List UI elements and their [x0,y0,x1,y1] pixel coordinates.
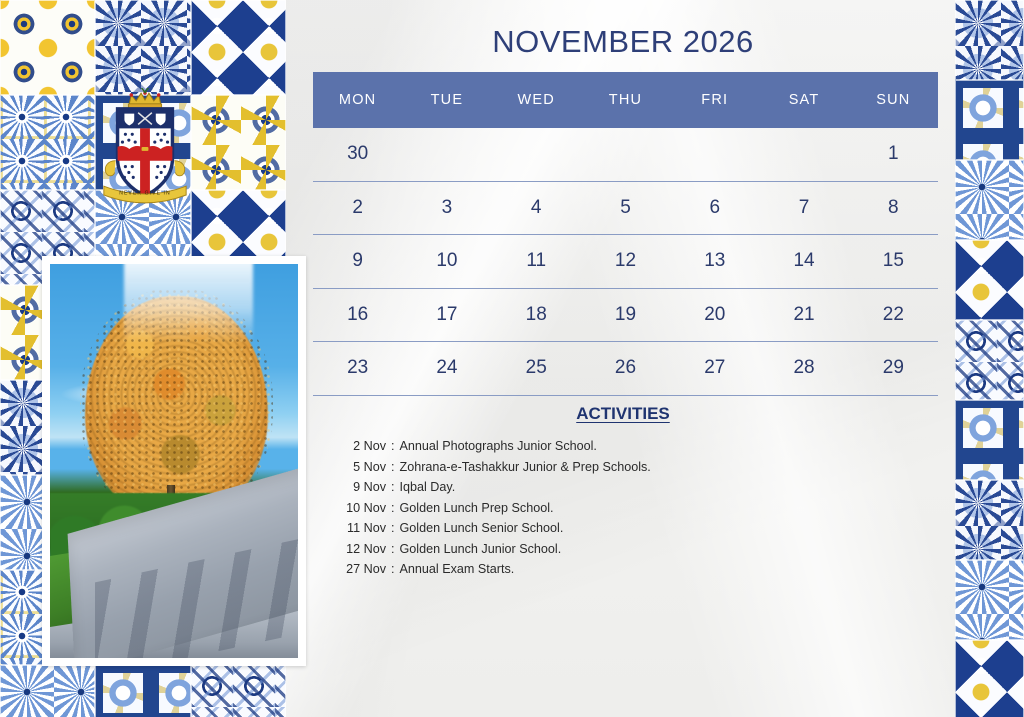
tile [955,0,1024,80]
weekday-sun: SUN [849,92,938,108]
day-cell[interactable]: 13 [670,250,759,272]
activity-text: Golden Lunch Junior School. [400,539,562,560]
crown-icon [128,91,161,108]
activity-separator: : [386,539,400,560]
activity-item: 9 Nov : Iqbal Day. [310,477,936,498]
weekday-thu: THU [581,92,670,108]
day-cell[interactable]: 21 [759,304,848,326]
day-cell[interactable]: 30 [313,143,402,165]
tile [191,0,286,95]
day-cell[interactable]: 22 [849,304,938,326]
day-cell[interactable]: 10 [402,250,491,272]
day-cell[interactable]: 5 [581,197,670,219]
calendar-week-row: 16 17 18 19 20 21 22 [313,289,938,343]
activities-list: 2 Nov : Annual Photographs Junior School… [310,436,936,580]
school-crest: NEVER GIVE IN [96,88,194,206]
weekday-wed: WED [492,92,581,108]
activity-item: 2 Nov : Annual Photographs Junior School… [310,436,936,457]
activity-date: 12 Nov [328,539,386,560]
tile [955,640,1024,717]
activity-date: 5 Nov [328,457,386,478]
day-cell[interactable]: 11 [492,250,581,272]
weekday-sat: SAT [759,92,848,108]
foliage-icon [135,88,155,93]
tile [0,665,95,717]
day-cell[interactable]: 12 [581,250,670,272]
tile [955,320,1024,400]
photo-highlight-overlay [124,264,253,343]
weekday-header-row: MON TUE WED THU FRI SAT SUN [313,72,938,128]
day-cell[interactable]: 7 [759,197,848,219]
activity-text: Zohrana-e-Tashakkur Junior & Prep School… [400,457,651,478]
tile [0,0,95,95]
day-cell[interactable]: 19 [581,304,670,326]
weekday-tue: TUE [402,92,491,108]
tile [955,160,1024,240]
day-cell[interactable]: 24 [402,357,491,379]
calendar-week-row: 2 3 4 5 6 7 8 [313,182,938,236]
calendar-weeks: 30 1 2 3 4 5 6 7 8 9 10 11 12 [313,128,938,396]
tile [0,95,95,190]
activity-date: 9 Nov [328,477,386,498]
day-cell[interactable]: 29 [849,357,938,379]
day-cell[interactable]: 2 [313,197,402,219]
activity-text: Iqbal Day. [400,477,456,498]
activity-separator: : [386,559,400,580]
activity-item: 12 Nov : Golden Lunch Junior School. [310,539,936,560]
day-cell[interactable]: 27 [670,357,759,379]
activity-item: 27 Nov : Annual Exam Starts. [310,559,936,580]
activity-separator: : [386,436,400,457]
day-cell[interactable]: 6 [670,197,759,219]
activity-separator: : [386,518,400,539]
activity-date: 27 Nov [328,559,386,580]
tile [95,0,190,95]
tile [955,560,1024,640]
weekday-mon: MON [313,92,402,108]
day-cell[interactable]: 26 [581,357,670,379]
day-cell[interactable]: 18 [492,304,581,326]
calendar-page: NEVER GIVE IN NOVEMBER 2026 MON TUE WED … [0,0,1024,717]
photo-card [42,256,306,666]
tile [955,480,1024,560]
tile [95,665,190,717]
calendar-panel: NOVEMBER 2026 MON TUE WED THU FRI SAT SU… [310,0,960,717]
tile [191,665,286,717]
activity-separator: : [386,457,400,478]
tile [955,80,1024,160]
activity-date: 11 Nov [328,518,386,539]
activity-text: Golden Lunch Prep School. [400,498,554,519]
day-cell[interactable]: 16 [313,304,402,326]
day-cell[interactable]: 17 [402,304,491,326]
activity-date: 2 Nov [328,436,386,457]
day-cell[interactable]: 14 [759,250,848,272]
weekday-fri: FRI [670,92,759,108]
tile [191,95,286,190]
activity-date: 10 Nov [328,498,386,519]
shield-pale [140,128,150,196]
calendar-title: NOVEMBER 2026 [310,24,936,60]
activity-item: 5 Nov : Zohrana-e-Tashakkur Junior & Pre… [310,457,936,478]
day-cell[interactable]: 1 [849,143,938,165]
calendar-week-row: 30 1 [313,128,938,182]
activity-separator: : [386,477,400,498]
calendar-week-row: 23 24 25 26 27 28 29 [313,342,938,396]
day-cell[interactable]: 28 [759,357,848,379]
day-cell[interactable]: 15 [849,250,938,272]
tile [955,400,1024,480]
activities-heading: ACTIVITIES [310,404,936,424]
autumn-tree-photo [50,264,298,658]
activity-text: Annual Exam Starts. [400,559,515,580]
day-cell[interactable]: 8 [849,197,938,219]
activity-item: 11 Nov : Golden Lunch Senior School. [310,518,936,539]
activity-separator: : [386,498,400,519]
activity-item: 10 Nov : Golden Lunch Prep School. [310,498,936,519]
tile [955,240,1024,320]
day-cell[interactable]: 3 [402,197,491,219]
day-cell[interactable]: 23 [313,357,402,379]
day-cell[interactable]: 20 [670,304,759,326]
activity-text: Golden Lunch Senior School. [400,518,564,539]
decorative-tile-panel-right [955,0,1024,717]
activity-text: Annual Photographs Junior School. [400,436,597,457]
day-cell[interactable]: 25 [492,357,581,379]
day-cell[interactable]: 4 [492,197,581,219]
crest-motto-text: NEVER GIVE IN [119,191,171,197]
day-cell[interactable]: 9 [313,250,402,272]
calendar-week-row: 9 10 11 12 13 14 15 [313,235,938,289]
